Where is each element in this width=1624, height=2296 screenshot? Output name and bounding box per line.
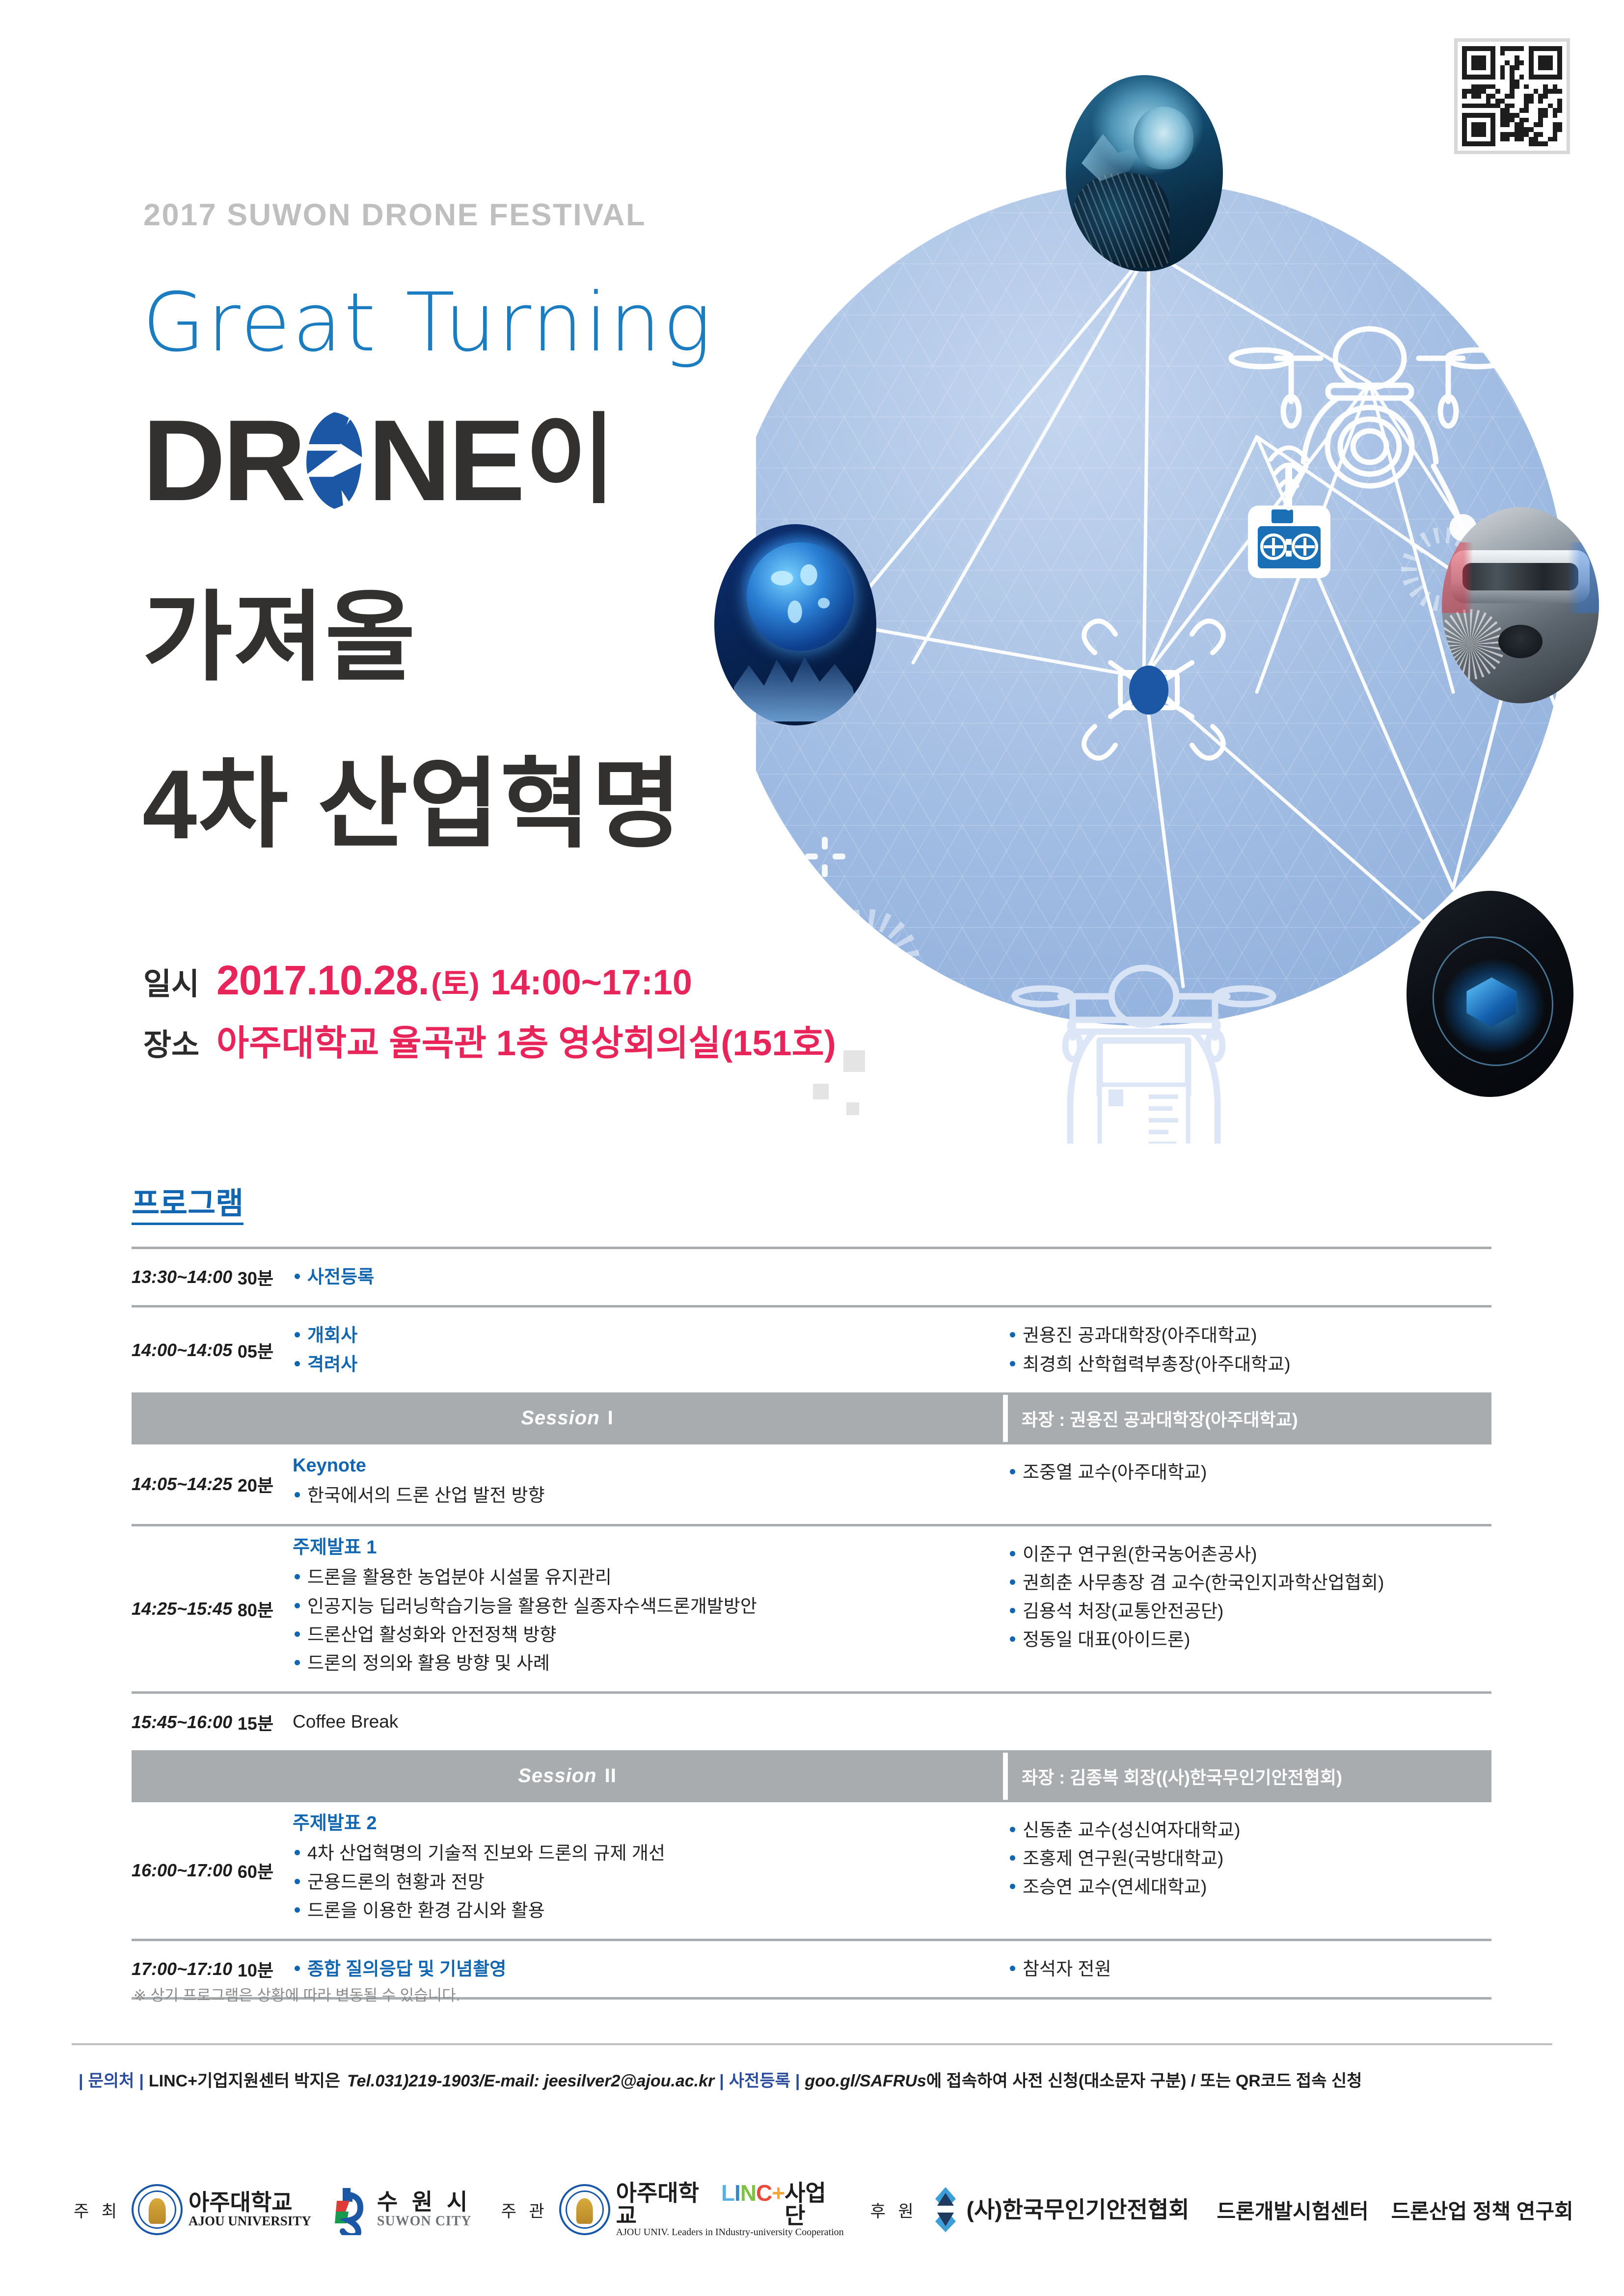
qr-code-icon[interactable] — [1454, 38, 1570, 154]
row-speakers — [994, 1694, 1491, 1750]
session-label: SessionI — [132, 1395, 1003, 1442]
linc-name-en: AJOU UNIV. Leaders in INdustry-universit… — [616, 2227, 844, 2238]
table-row: 14:00~14:0505분개회사격려사권용진 공과대학장(아주대학교)최경희 … — [132, 1305, 1491, 1392]
sponsor-kuasa: (사)한국무인기안전협회 — [928, 2184, 1190, 2235]
date-label: 일시 — [143, 967, 199, 1001]
row-speakers: 조중열 교수(아주대학교) — [994, 1444, 1491, 1524]
headline-line-2: 가져올 — [142, 589, 416, 687]
ajou-name-en: AJOU UNIVERSITY — [189, 2214, 311, 2229]
speaker-item: 김용석 처장(교통안전공단) — [1008, 1600, 1491, 1623]
speaker-item: 참석자 전원 — [1008, 1958, 1491, 1980]
row-speakers: 참석자 전원 — [994, 1941, 1491, 1997]
host-label: 주 최 — [74, 2198, 121, 2222]
row-topics: 사전등록 — [279, 1249, 994, 1305]
ajou-seal-icon-2 — [559, 2184, 610, 2235]
row-topics: Keynote한국에서의 드론 산업 발전 방향 — [279, 1444, 994, 1524]
tagline-great-turning: Great Turning — [142, 282, 713, 363]
topic-item: 드론을 이용한 환경 감시와 활용 — [293, 1899, 994, 1922]
row-time: 13:30~14:00 — [132, 1249, 232, 1305]
place-label: 장소 — [143, 1028, 199, 1062]
row-time: 14:25~15:45 — [132, 1526, 232, 1692]
topic-item: 4차 산업혁명의 기술적 진보와 드론의 규제 개선 — [293, 1842, 994, 1865]
row-time: 15:45~16:00 — [132, 1694, 232, 1750]
program-table: 13:30~14:0030분사전등록14:00~14:0505분개회사격려사권용… — [132, 1247, 1491, 2000]
contact-bar-mid: | — [139, 2072, 144, 2090]
row-duration: 30분 — [232, 1249, 279, 1305]
row-topics: 개회사격려사 — [279, 1308, 994, 1392]
footer-divider — [72, 2043, 1552, 2045]
date-value: 2017.10.28. — [217, 957, 429, 1003]
row-duration: 05분 — [232, 1308, 279, 1392]
register-bar-left: | — [719, 2072, 724, 2090]
photo-bubble-vr-headset — [1442, 507, 1599, 703]
supporter-drone-test-center: 드론개발시험센터 — [1217, 2195, 1369, 2225]
event-place-line: 장소 아주대학교 율곡관 1층 영상회의실(151호) — [143, 1026, 836, 1061]
session-header-row: SessionII좌장 : 김종복 회장((사)한국무인기안전협회) — [132, 1750, 1491, 1800]
contact-text: LINC+기업지원센터 박지은 — [149, 2072, 340, 2090]
title-drone-suffix: 이 — [525, 411, 616, 509]
speaker-item: 권용진 공과대학장(아주대학교) — [1008, 1324, 1491, 1347]
ajou-name-ko: 아주대학교 — [189, 2190, 311, 2214]
speaker-item: 신동춘 교수(성신여자대학교) — [1008, 1819, 1491, 1842]
session-label: SessionII — [132, 1753, 1003, 1800]
photo-bubble-tech-circuit — [1407, 891, 1573, 1097]
linc-wordmark-icon: LINC+ — [721, 2182, 785, 2204]
table-row: 15:45~16:0015분Coffee Break — [132, 1691, 1491, 1750]
title-drone-line: DR NE 이 — [142, 407, 616, 513]
topic-item: 드론산업 활성화와 안전정책 방향 — [293, 1624, 994, 1646]
linc-suffix: 사업단 — [785, 2182, 844, 2227]
supporter-drone-policy-group: 드론산업 정책 연구회 — [1391, 2195, 1573, 2225]
sponsor-ajou-linc: 아주대학교 LINC+ 사업단 AJOU UNIV. Leaders in IN… — [559, 2182, 844, 2238]
table-row: 14:25~15:4580분주제발표 1드론을 활용한 농업분야 시설물 유지관… — [132, 1524, 1491, 1692]
row-time: 16:00~17:00 — [132, 1802, 232, 1939]
speaker-item: 조승연 교수(연세대학교) — [1008, 1876, 1491, 1898]
row-speakers: 신동춘 교수(성신여자대학교)조홍제 연구원(국방대학교)조승연 교수(연세대학… — [994, 1802, 1491, 1939]
topic-header: 주제발표 2 — [293, 1813, 994, 1835]
row-duration: 15분 — [232, 1694, 279, 1750]
topic-item: 한국에서의 드론 산업 발전 방향 — [293, 1484, 994, 1507]
program-note: ※ 상기 프로그램은 상황에 따라 변동될 수 있습니다. — [134, 1983, 460, 2005]
poster-root: 2017 SUWON DRONE FESTIVAL Great Turning … — [0, 0, 1624, 2296]
contact-bar-left: | — [79, 2072, 83, 2090]
row-speakers — [994, 1249, 1491, 1305]
photo-bubble-ai-robot — [1066, 75, 1223, 271]
date-time: 14:00~17:10 — [490, 963, 692, 1002]
place-value: 아주대학교 율곡관 1층 영상회의실(151호) — [217, 1024, 836, 1063]
register-label: 사전등록 — [729, 2072, 790, 2090]
register-bar-mid: | — [795, 2072, 800, 2090]
kuasa-name: (사)한국무인기안전협회 — [967, 2198, 1190, 2221]
contact-tel-email[interactable]: Tel.031)219-1903/E-mail: jeesilver2@ajou… — [347, 2072, 714, 2090]
kuasa-logo-icon — [928, 2184, 963, 2235]
hero-graphic — [756, 162, 1591, 1144]
speaker-item: 권희춘 사무총장 겸 교수(한국인지과학산업협회) — [1008, 1572, 1491, 1594]
row-time: 14:05~14:25 — [132, 1444, 232, 1524]
program-heading: 프로그램 — [132, 1189, 244, 1225]
row-topics: Coffee Break — [279, 1694, 994, 1750]
row-speakers: 권용진 공과대학장(아주대학교)최경희 산학협력부총장(아주대학교) — [994, 1308, 1491, 1392]
speaker-item: 조홍제 연구원(국방대학교) — [1008, 1847, 1491, 1870]
row-duration: 80분 — [232, 1526, 279, 1692]
suwon-city-logo-icon — [328, 2184, 373, 2235]
pixel-decor-1 — [843, 1050, 865, 1072]
contact-label: 문의처 — [88, 2072, 135, 2090]
footer-contact-line: |문의처|LINC+기업지원센터 박지은Tel.031)219-1903/E-m… — [74, 2067, 1362, 2091]
topic-item: 종합 질의응답 및 기념촬영 — [293, 1958, 994, 1980]
session-chair: 좌장 : 권용진 공과대학장(아주대학교) — [1008, 1395, 1491, 1442]
headline-line-3: 4차 산업혁명 — [142, 756, 683, 854]
camera-aperture-icon — [298, 410, 371, 510]
session-header-row: SessionI좌장 : 권용진 공과대학장(아주대학교) — [132, 1392, 1491, 1442]
ajou-seal-icon — [132, 2184, 183, 2235]
table-row: 16:00~17:0060분주제발표 24차 산업혁명의 기술적 진보와 드론의… — [132, 1800, 1491, 1939]
sponsor-suwon-city: 수 원 시 SUWON CITY — [328, 2184, 472, 2235]
supporter-label: 후 원 — [870, 2198, 918, 2222]
suwon-name-ko: 수 원 시 — [377, 2190, 472, 2214]
table-row: 14:05~14:2520분Keynote한국에서의 드론 산업 발전 방향조중… — [132, 1442, 1491, 1524]
sponsor-row: 주 최 아주대학교 AJOU UNIVERSITY 수 원 시 SUWON CI… — [74, 2175, 1556, 2244]
table-row: 13:30~14:0030분사전등록 — [132, 1247, 1491, 1305]
register-text: 에 접속하여 사전 신청(대소문자 구분) / 또는 QR코드 접속 신청 — [926, 2072, 1362, 2090]
session-chair: 좌장 : 김종복 회장((사)한국무인기안전협회) — [1008, 1753, 1491, 1800]
speaker-item: 정동일 대표(아이드론) — [1008, 1629, 1491, 1651]
row-topics: 주제발표 24차 산업혁명의 기술적 진보와 드론의 규제 개선군용드론의 현황… — [279, 1802, 994, 1939]
speaker-item: 조중열 교수(아주대학교) — [1008, 1461, 1491, 1484]
speaker-item: 최경희 산학협력부총장(아주대학교) — [1008, 1353, 1491, 1376]
row-duration: 60분 — [232, 1802, 279, 1939]
halftone-burst — [823, 919, 910, 1005]
row-topics: 주제발표 1드론을 활용한 농업분야 시설물 유지관리인공지능 딥러닝학습기능을… — [279, 1526, 994, 1692]
row-speakers: 이준구 연구원(한국농어촌공사)권희춘 사무총장 겸 교수(한국인지과학산업협회… — [994, 1526, 1491, 1692]
topic-item: 인공지능 딥러닝학습기능을 활용한 실종자수색드론개발방안 — [293, 1595, 994, 1618]
row-duration: 20분 — [232, 1444, 279, 1524]
title-drone-dr: DR — [142, 402, 303, 518]
suwon-name-en: SUWON CITY — [377, 2214, 472, 2229]
event-date-line: 일시 2017.10.28. (토) 14:00~17:10 — [143, 960, 692, 1001]
speaker-item: 이준구 연구원(한국농어촌공사) — [1008, 1543, 1491, 1566]
topic-item: 군용드론의 현황과 전망 — [293, 1871, 994, 1894]
topic-item: 드론을 활용한 농업분야 시설물 유지관리 — [293, 1566, 994, 1589]
topic-header: Keynote — [293, 1455, 994, 1477]
sponsor-ajou-university: 아주대학교 AJOU UNIVERSITY — [132, 2184, 311, 2235]
linc-ajou-ko: 아주대학교 — [616, 2182, 715, 2227]
topic-item: Coffee Break — [293, 1710, 994, 1733]
topic-item: 개회사 — [293, 1324, 994, 1347]
topic-header: 주제발표 1 — [293, 1537, 994, 1559]
organizer-label: 주 관 — [501, 2198, 548, 2222]
date-day: (토) — [431, 967, 479, 1001]
session-gap — [1003, 1395, 1008, 1442]
pixel-decor-3 — [846, 1102, 859, 1115]
kicker-text: 2017 SUWON DRONE FESTIVAL — [143, 197, 646, 233]
row-time: 14:00~14:05 — [132, 1308, 232, 1392]
pixel-decor-2 — [813, 1084, 829, 1099]
register-url[interactable]: goo.gl/SAFRUs — [805, 2072, 926, 2090]
topic-item: 사전등록 — [293, 1266, 994, 1288]
topic-item: 격려사 — [293, 1353, 994, 1376]
photo-bubble-globe — [714, 524, 876, 725]
session-gap — [1003, 1753, 1008, 1800]
topic-item: 드론의 정의와 활용 방향 및 사례 — [293, 1652, 994, 1675]
title-drone-ne: NE — [368, 402, 522, 518]
